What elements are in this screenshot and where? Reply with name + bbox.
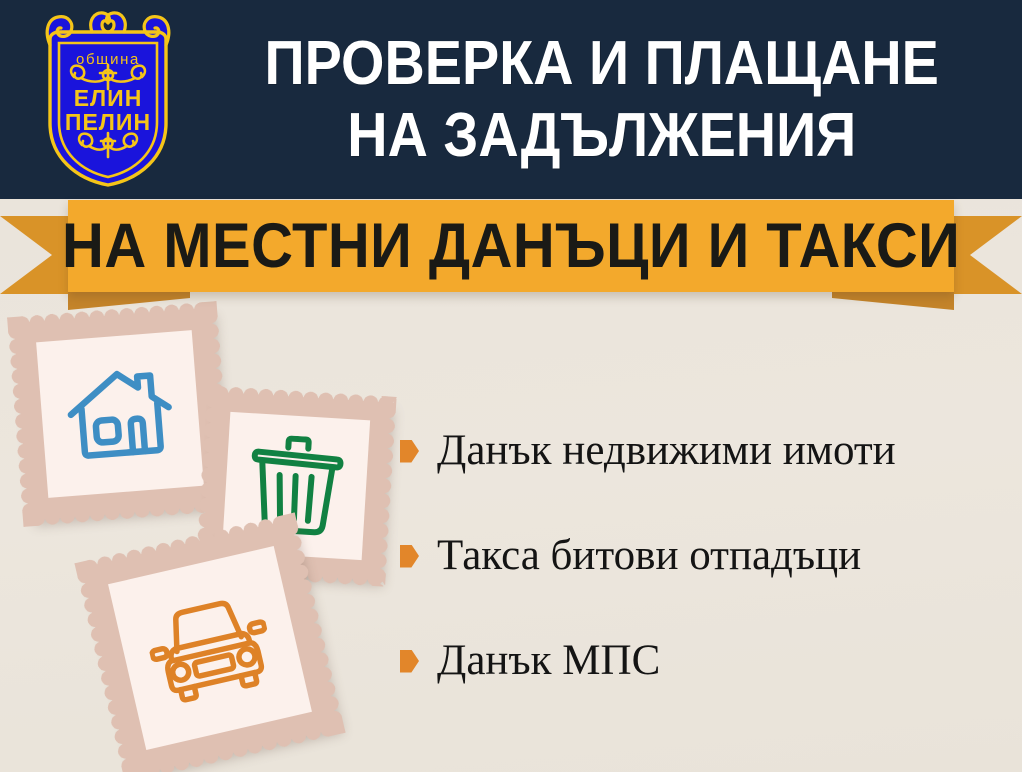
- house-icon: [62, 361, 177, 467]
- page-title-line-1: ПРОВЕРКА И ПЛАЩАНЕ: [265, 28, 939, 100]
- arrow-bullet-icon: [400, 545, 419, 568]
- header-bar: община ЕЛИН ПЕЛИН: [0, 0, 1022, 199]
- elin-pelin-municipality-crest: община ЕЛИН ПЕЛИН: [24, 5, 192, 191]
- list-item-label: Данък недвижими имоти: [437, 426, 896, 476]
- page-title: ПРОВЕРКА И ПЛАЩАНЕ НА ЗАДЪЛЖЕНИЯ: [196, 18, 1008, 182]
- poster-canvas: община ЕЛИН ПЕЛИН: [0, 0, 1022, 772]
- list-item[interactable]: Данък недвижими имоти: [400, 424, 1010, 478]
- crest-name-line2: ПЕЛИН: [65, 109, 151, 135]
- crest-name-line1: ЕЛИН: [74, 85, 143, 111]
- ribbon-fold-left: [68, 292, 190, 310]
- list-item-label: Такса битови отпадъци: [437, 531, 861, 581]
- arrow-bullet-icon: [400, 440, 419, 463]
- stamp-house: [15, 309, 226, 520]
- stamp-house-paper: [36, 330, 204, 498]
- list-item[interactable]: Данък МПС: [400, 634, 1010, 688]
- ribbon-label: НА МЕСТНИ ДАНЪЦИ И ТАКСИ: [62, 213, 960, 279]
- car-icon: [141, 588, 280, 709]
- stamp-car-paper: [108, 546, 312, 750]
- trash-bin-icon: [245, 433, 347, 539]
- arrow-bullet-icon: [400, 650, 419, 673]
- ribbon-fold-right: [832, 292, 954, 310]
- list-item-label: Данък МПС: [437, 636, 660, 686]
- page-title-line-2: НА ЗАДЪЛЖЕНИЯ: [347, 100, 856, 172]
- tax-types-list: Данък недвижими имоти Такса битови отпад…: [400, 424, 1010, 688]
- ribbon-banner: НА МЕСТНИ ДАНЪЦИ И ТАКСИ: [68, 200, 954, 292]
- list-item[interactable]: Такса битови отпадъци: [400, 529, 1010, 583]
